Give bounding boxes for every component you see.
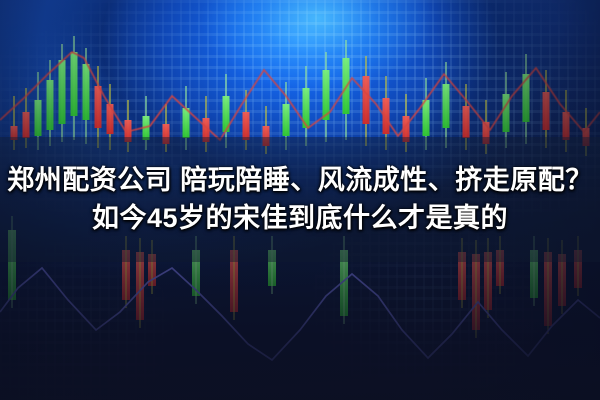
thumbnail-image: 郑州配资公司 陪玩陪睡、风流成性、挤走原配？ 如今45岁的宋佳到底什么才是真的 bbox=[0, 0, 600, 400]
headline-line-1: 郑州配资公司 陪玩陪睡、风流成性、挤走原配？ bbox=[7, 163, 593, 199]
headline-block: 郑州配资公司 陪玩陪睡、风流成性、挤走原配？ 如今45岁的宋佳到底什么才是真的 bbox=[0, 137, 600, 262]
headline-line-2: 如今45岁的宋佳到底什么才是真的 bbox=[92, 201, 508, 237]
